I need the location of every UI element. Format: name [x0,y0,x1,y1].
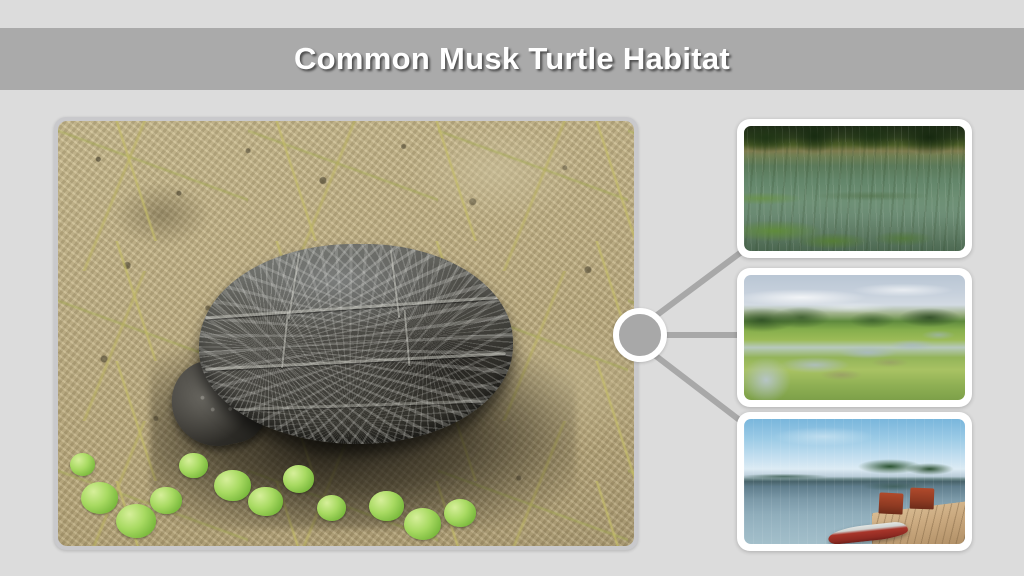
slide-canvas: Common Musk Turtle Habitat [0,0,1024,576]
thumbnail-photo-calm-lake-dock [744,419,965,544]
title-banner: Common Musk Turtle Habitat [0,28,1024,90]
hub-to-lake-line [652,353,746,425]
pennywort-leaf [150,487,182,515]
adirondack-chair [878,492,903,514]
pennywort-leaf [444,499,476,527]
hero-photo-common-musk-turtle [58,121,634,546]
pennywort-leaf [248,487,283,517]
adirondack-chair [909,487,934,509]
thumbnail-card-lake[interactable] [737,412,972,551]
thumbnail-card-pond[interactable] [737,119,972,258]
hero-image-frame[interactable] [54,117,638,550]
pennywort-leaf [116,504,156,538]
pennywort-leaf [283,465,315,493]
pennywort-leaf [81,482,118,514]
habitat-hub-node[interactable] [613,308,667,362]
thumbnail-photo-shallow-weedy-pond [744,126,965,251]
pennywort-leaf [369,491,404,521]
pennywort-leaf [214,470,251,502]
turtle-figure [179,240,513,457]
pennywort-leaf [70,453,96,476]
page-title: Common Musk Turtle Habitat [294,41,730,77]
pennywort-leaf [317,495,346,521]
thumbnail-card-marsh[interactable] [737,268,972,407]
thumbnail-photo-tidal-salt-marsh [744,275,965,400]
pennywort-leaf [179,453,208,479]
hub-to-pond-line [653,250,744,318]
pennywort-leaf [404,508,441,540]
carapace-growth-striations [199,244,513,443]
turtle-carapace [199,244,513,443]
